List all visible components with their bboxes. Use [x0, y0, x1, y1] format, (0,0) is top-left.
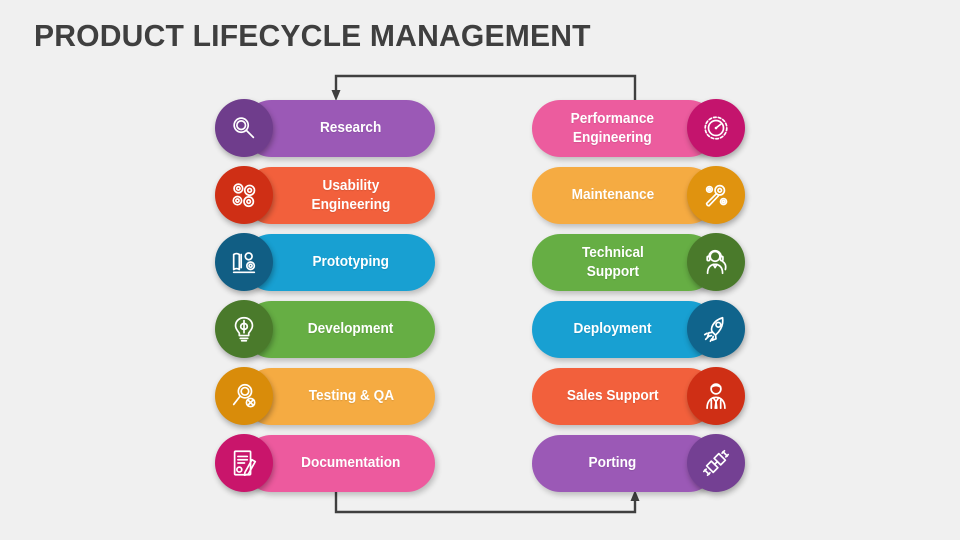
stage-item-prototyping[interactable]: Prototyping	[215, 234, 435, 291]
gears-icon	[215, 166, 273, 224]
stage-item-deployment[interactable]: Deployment	[532, 301, 745, 358]
slide-canvas: PRODUCT LIFECYCLE MANAGEMENT Research	[0, 0, 960, 540]
stage-item-usability-engineering[interactable]: Usability Engineering	[215, 167, 435, 224]
stage-item-porting[interactable]: Porting	[532, 435, 745, 492]
stage-item-testing-qa[interactable]: Testing & QA	[215, 368, 435, 425]
stage-label: Research	[320, 119, 381, 137]
stage-label: Maintenance	[571, 186, 654, 204]
magnifier-bug-icon	[215, 367, 273, 425]
stage-label: Technical Support	[582, 244, 644, 280]
stage-item-documentation[interactable]: Documentation	[215, 435, 435, 492]
salesperson-icon	[687, 367, 745, 425]
connector-arrows	[0, 0, 960, 540]
lightbulb-brain-icon	[215, 300, 273, 358]
headset-agent-icon	[687, 233, 745, 291]
wrench-gears-icon	[687, 166, 745, 224]
stage-label: Performance Engineering	[571, 110, 654, 146]
stage-label: Development	[308, 320, 394, 338]
stage-item-performance-engineering[interactable]: Performance Engineering	[532, 100, 745, 157]
rocket-icon	[687, 300, 745, 358]
left-stage-column: Research Usability Engineering	[215, 100, 435, 502]
stage-item-technical-support[interactable]: Technical Support	[532, 234, 745, 291]
stage-item-maintenance[interactable]: Maintenance	[532, 167, 745, 224]
connector-plug-icon	[687, 434, 745, 492]
stage-label: Documentation	[301, 454, 400, 472]
magnifier-icon	[215, 99, 273, 157]
stage-label: Deployment	[573, 320, 651, 338]
stage-label: Porting	[589, 454, 637, 472]
stage-label: Sales Support	[567, 387, 659, 405]
stage-item-research[interactable]: Research	[215, 100, 435, 157]
stage-label: Usability Engineering	[312, 177, 391, 213]
stage-item-sales-support[interactable]: Sales Support	[532, 368, 745, 425]
gauge-gear-icon	[687, 99, 745, 157]
stage-label: Prototyping	[313, 253, 389, 271]
stage-label: Testing & QA	[308, 387, 393, 405]
document-pen-icon	[215, 434, 273, 492]
right-stage-column: Performance Engineering Maintenance	[532, 100, 745, 502]
blueprint-icon	[215, 233, 273, 291]
page-title: PRODUCT LIFECYCLE MANAGEMENT	[34, 18, 591, 54]
stage-item-development[interactable]: Development	[215, 301, 435, 358]
